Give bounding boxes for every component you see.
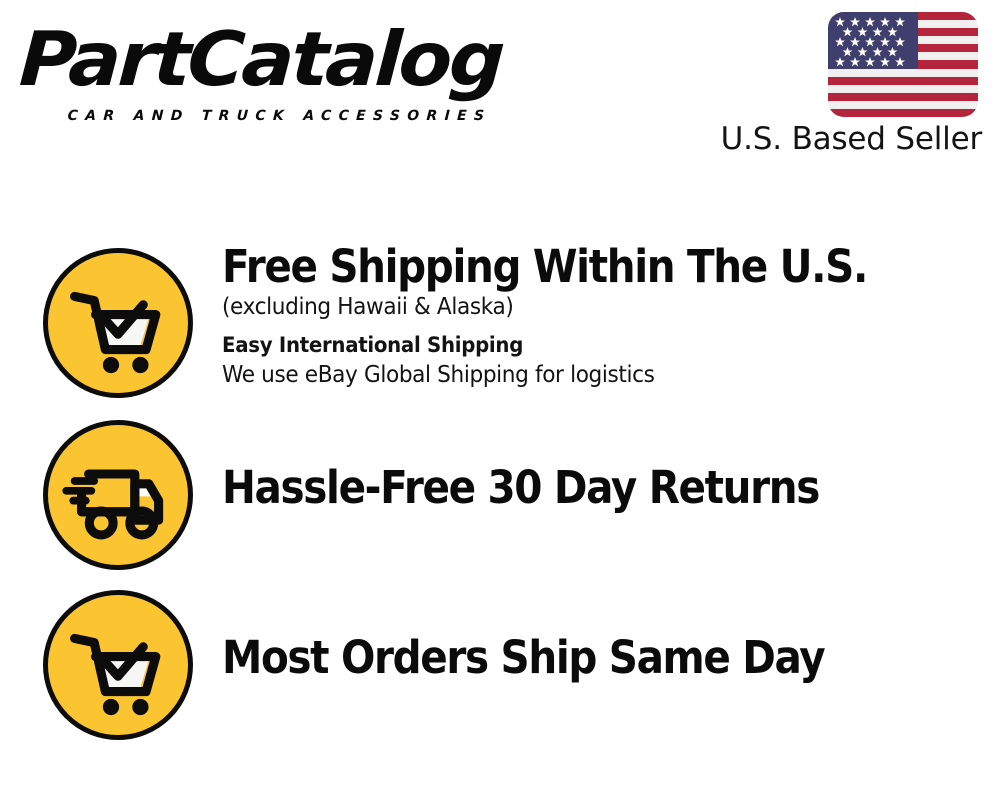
feature-headline: Free Shipping Within The U.S. — [222, 242, 870, 292]
brand-wordmark: PartCatalog — [18, 18, 505, 100]
feature-sub-note: (excluding Hawaii & Alaska) — [222, 292, 899, 322]
feature-text-block: Free Shipping Within The U.S. (excluding… — [222, 242, 942, 390]
us-based-seller-badge: U.S. Based Seller — [718, 8, 988, 158]
feature-sub-heading: Easy International Shipping — [222, 330, 899, 360]
feature-headline: Hassle-Free 30 Day Returns — [222, 463, 870, 513]
shopping-cart-check-icon — [43, 590, 193, 740]
brand-tagline: CAR AND TRUCK ACCESSORIES — [67, 108, 492, 124]
us-flag-icon — [828, 12, 978, 117]
shopping-cart-check-icon — [43, 248, 193, 398]
delivery-truck-icon — [43, 420, 193, 570]
flag-canton — [828, 12, 918, 69]
feature-headline: Most Orders Ship Same Day — [222, 633, 870, 683]
feature-text-block: Most Orders Ship Same Day — [222, 633, 942, 683]
brand-logo[interactable]: PartCatalog CAR AND TRUCK ACCESSORIES — [22, 18, 492, 118]
feature-sub-detail: We use eBay Global Shipping for logistic… — [222, 360, 899, 390]
flag-stars — [828, 12, 918, 69]
feature-text-block: Hassle-Free 30 Day Returns — [222, 463, 942, 513]
us-based-seller-label: U.S. Based Seller — [721, 120, 982, 158]
